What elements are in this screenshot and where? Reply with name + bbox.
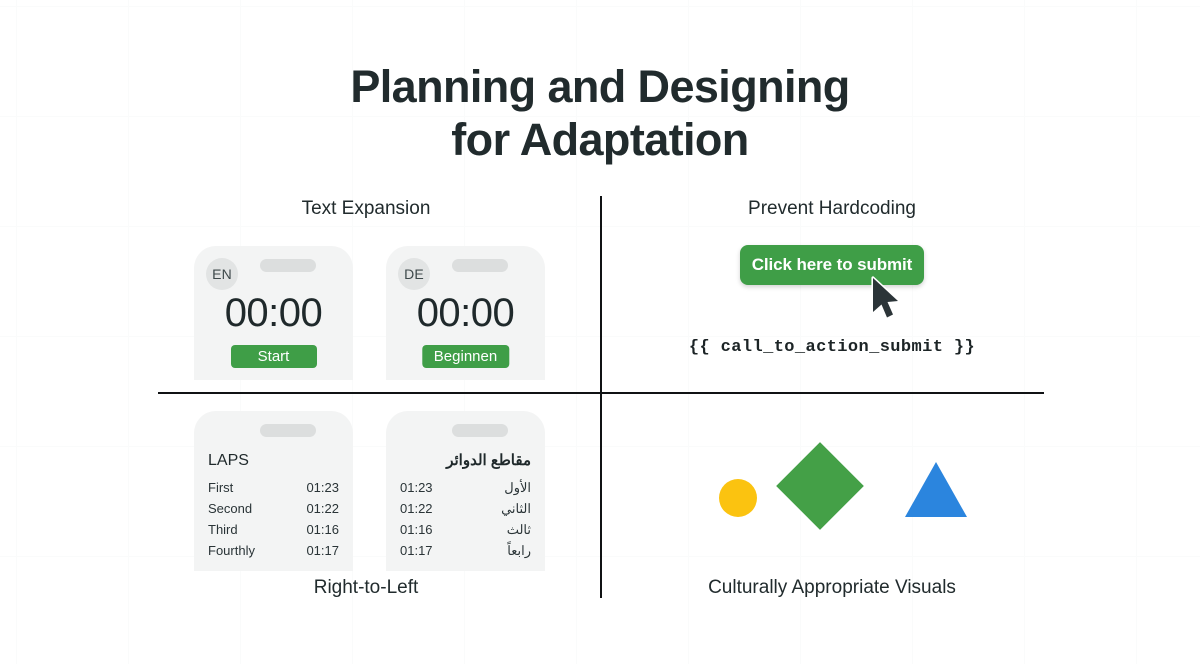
- laps-card-rtl: مقاطع الدوائر الأول 01:23 الثاني 01:22 ث…: [386, 411, 545, 571]
- laps-card-ltr: LAPS First 01:23 Second 01:22 Third 01:1…: [194, 411, 353, 571]
- lap-row: رابعاً 01:17: [400, 540, 531, 561]
- lap-label: رابعاً: [507, 540, 531, 561]
- lap-time: 01:23: [400, 477, 433, 498]
- timer-start-button-en[interactable]: Start: [231, 345, 317, 368]
- lap-row: الثاني 01:22: [400, 498, 531, 519]
- template-token-text: {{ call_to_action_submit }}: [662, 336, 1002, 360]
- timer-start-button-de[interactable]: Beginnen: [422, 345, 509, 368]
- lap-time: 01:16: [400, 519, 433, 540]
- timer-card-de: DE 00:00 Beginnen: [386, 246, 545, 380]
- caption-right-to-left: Right-to-Left: [196, 577, 536, 599]
- timer-value-de: 00:00: [386, 291, 545, 335]
- timer-card-en: EN 00:00 Start: [194, 246, 353, 380]
- laps-heading-rtl: مقاطع الدوائر: [400, 449, 531, 473]
- phone-notch-icon: [260, 259, 316, 272]
- caption-cultural-visuals: Culturally Appropriate Visuals: [662, 577, 1002, 599]
- phone-notch-icon: [452, 424, 508, 437]
- lap-row: Fourthly 01:17: [208, 540, 339, 561]
- lap-label: الأول: [504, 477, 531, 498]
- lap-row: First 01:23: [208, 477, 339, 498]
- lap-label: Fourthly: [208, 540, 255, 561]
- lap-label: Second: [208, 498, 252, 519]
- lap-time: 01:16: [306, 519, 339, 540]
- quadrant-divider-horizontal: [158, 392, 1044, 394]
- lap-label: الثاني: [501, 498, 531, 519]
- lap-time: 01:17: [306, 540, 339, 561]
- quadrant-divider-vertical: [600, 196, 602, 598]
- arrow-cursor-icon: [869, 276, 903, 322]
- language-badge-en: EN: [206, 258, 238, 290]
- diamond-shape-icon: [776, 442, 864, 530]
- caption-prevent-hardcoding: Prevent Hardcoding: [662, 198, 1002, 220]
- lap-row: Third 01:16: [208, 519, 339, 540]
- lap-row: Second 01:22: [208, 498, 339, 519]
- laps-heading-ltr: LAPS: [208, 449, 339, 473]
- phone-notch-icon: [452, 259, 508, 272]
- page-title: Planning and Designing for Adaptation: [0, 60, 1200, 166]
- lap-time: 01:22: [306, 498, 339, 519]
- caption-text-expansion: Text Expansion: [196, 198, 536, 220]
- phone-notch-icon: [260, 424, 316, 437]
- lap-label: First: [208, 477, 233, 498]
- lap-time: 01:17: [400, 540, 433, 561]
- timer-value-en: 00:00: [194, 291, 353, 335]
- circle-shape-icon: [719, 479, 757, 517]
- lap-label: Third: [208, 519, 238, 540]
- lap-row: ثالث 01:16: [400, 519, 531, 540]
- language-badge-de: DE: [398, 258, 430, 290]
- slide-canvas: Planning and Designing for Adaptation Te…: [0, 0, 1200, 664]
- lap-time: 01:22: [400, 498, 433, 519]
- lap-label: ثالث: [507, 519, 531, 540]
- lap-row: الأول 01:23: [400, 477, 531, 498]
- triangle-shape-icon: [905, 462, 967, 517]
- lap-time: 01:23: [306, 477, 339, 498]
